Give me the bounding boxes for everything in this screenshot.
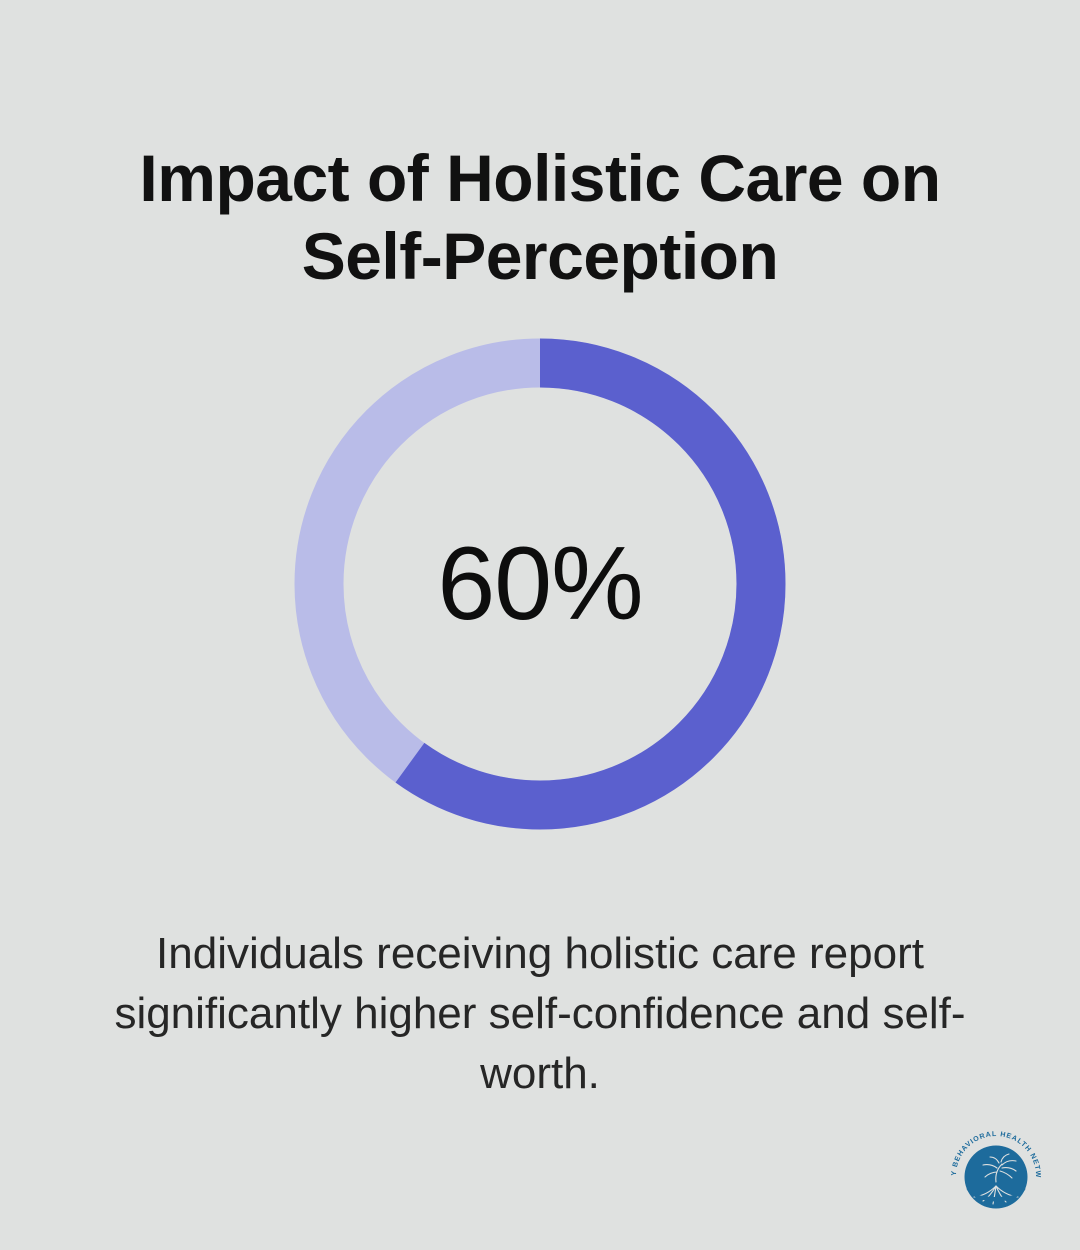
donut-chart: 60% (294, 338, 786, 830)
donut-chart-svg (294, 338, 786, 830)
chart-caption: Individuals receiving holistic care repo… (64, 924, 1016, 1103)
page-title-line-2: Self-Perception (60, 218, 1020, 296)
infographic-canvas: Impact of Holistic Care on Self-Percepti… (0, 0, 1080, 1250)
brand-logo: AMITY BEHAVIORAL HEALTH NETWORK (944, 1124, 1048, 1228)
tree-logo-icon: AMITY BEHAVIORAL HEALTH NETWORK (944, 1124, 1048, 1228)
page-title-line-1: Impact of Holistic Care on (60, 140, 1020, 218)
page-title: Impact of Holistic Care on Self-Percepti… (60, 140, 1020, 296)
